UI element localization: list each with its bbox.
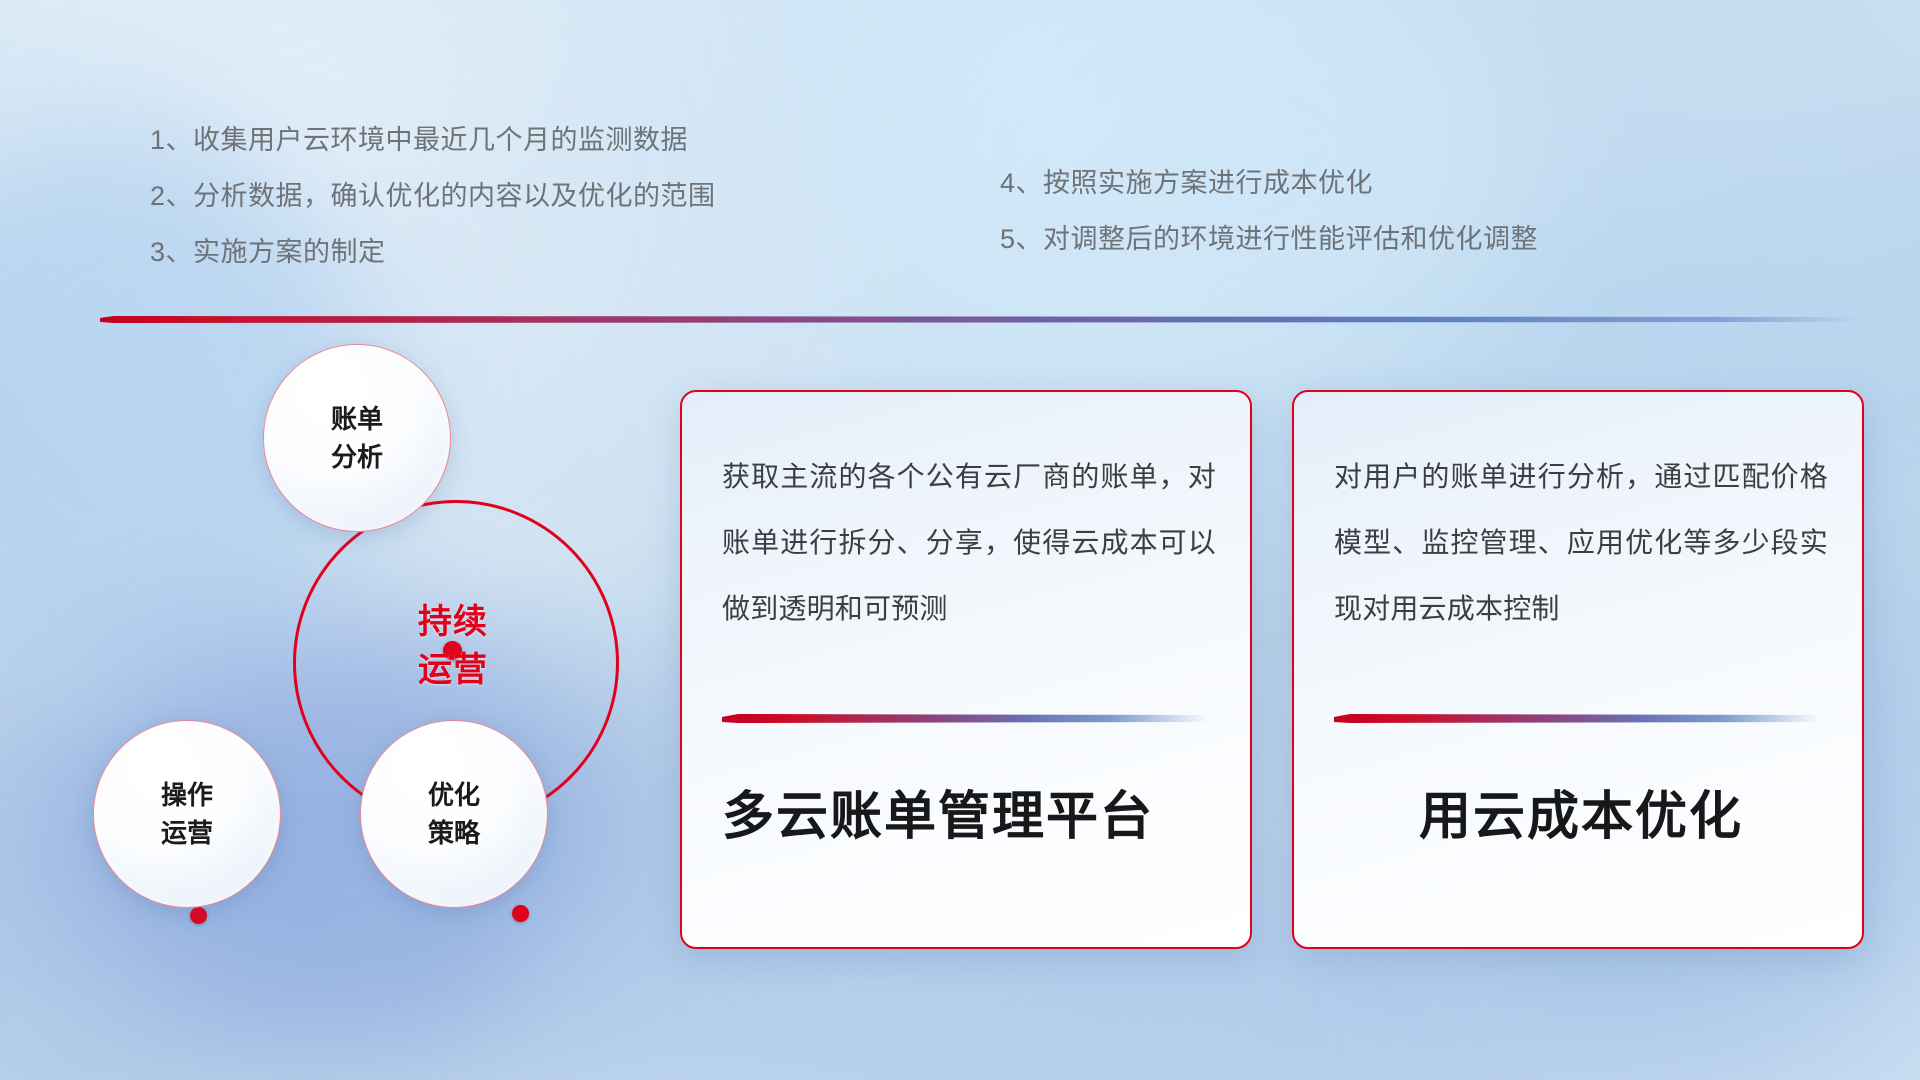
section-divider-rule (100, 316, 1860, 323)
diagram-bubble-bill-analysis[interactable]: 账单 分析 (263, 344, 451, 532)
center-label-line-2: 运营 (293, 646, 613, 694)
diagram-center-label: 持续 运营 (293, 598, 613, 694)
card-divider (1334, 714, 1820, 723)
continuous-operation-diagram: 持续 运营 账单 分析 操作 运营 优化 策略 (108, 352, 628, 952)
ring-node-bottom-right-icon (512, 905, 529, 922)
card-body-text: 获取主流的各个公有云厂商的账单，对账单进行拆分、分享，使得云成本可以做到透明和可… (722, 444, 1216, 642)
diagram-bubble-optimization-strategy[interactable]: 优化 策略 (360, 720, 548, 908)
step-item-1: 1、收集用户云环境中最近几个月的监测数据 (150, 112, 716, 168)
step-item-3: 3、实施方案的制定 (150, 224, 716, 280)
card-cloud-cost-optimization[interactable]: 对用户的账单进行分析，通过匹配价格模型、监控管理、应用优化等多少段实现对用云成本… (1292, 390, 1864, 949)
card-multi-cloud-bill-platform[interactable]: 获取主流的各个公有云厂商的账单，对账单进行拆分、分享，使得云成本可以做到透明和可… (680, 390, 1252, 949)
center-label-line-1: 持续 (293, 598, 613, 646)
step-item-2: 2、分析数据，确认优化的内容以及优化的范围 (150, 168, 716, 224)
card-title: 用云成本优化 (1334, 782, 1828, 852)
steps-right-column: 4、按照实施方案进行成本优化 5、对调整后的环境进行性能评估和优化调整 (1000, 155, 1538, 267)
card-title: 多云账单管理平台 (722, 782, 1216, 852)
bubble-label-line-1: 账单 (331, 400, 383, 438)
steps-left-column: 1、收集用户云环境中最近几个月的监测数据 2、分析数据，确认优化的内容以及优化的… (150, 112, 716, 280)
bubble-label-line-1: 优化 (428, 776, 480, 814)
bubble-label-line-1: 操作 (161, 776, 213, 814)
bubble-label-line-2: 策略 (428, 814, 480, 852)
step-item-4: 4、按照实施方案进行成本优化 (1000, 155, 1538, 211)
ring-node-bottom-left-icon (190, 907, 207, 924)
diagram-bubble-operations[interactable]: 操作 运营 (93, 720, 281, 908)
card-body-text: 对用户的账单进行分析，通过匹配价格模型、监控管理、应用优化等多少段实现对用云成本… (1334, 444, 1828, 642)
card-divider (722, 714, 1208, 723)
slide-canvas: 1、收集用户云环境中最近几个月的监测数据 2、分析数据，确认优化的内容以及优化的… (0, 0, 1920, 1080)
bubble-label-line-2: 运营 (161, 814, 213, 852)
bubble-label-line-2: 分析 (331, 438, 383, 476)
step-item-5: 5、对调整后的环境进行性能评估和优化调整 (1000, 211, 1538, 267)
